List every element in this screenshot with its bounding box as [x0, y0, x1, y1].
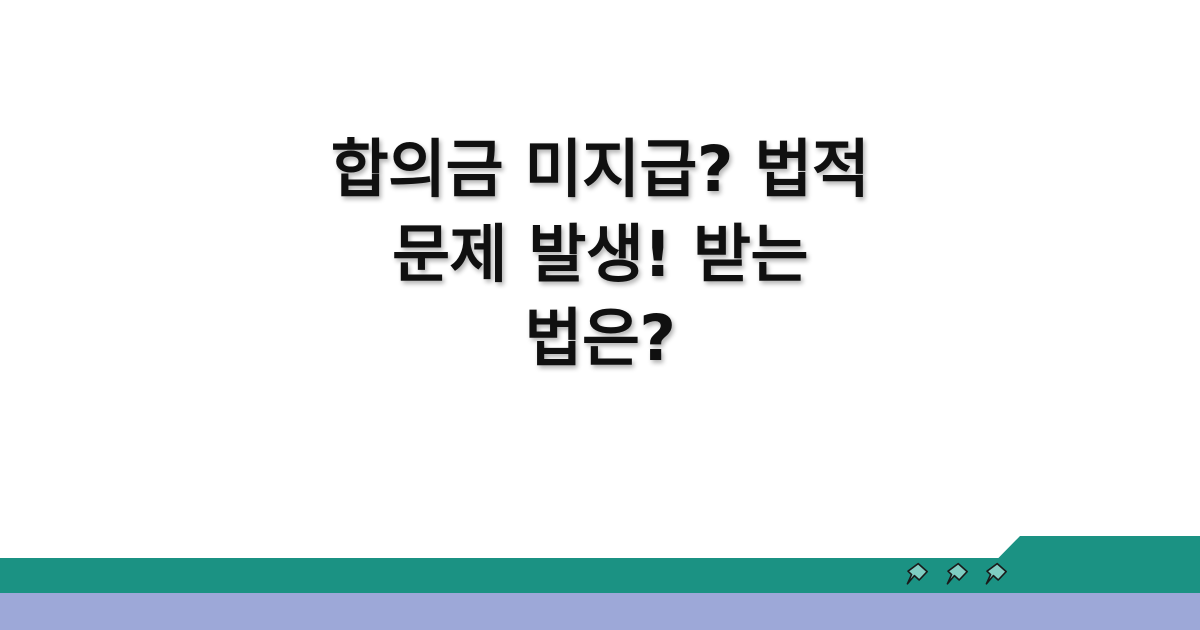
- page-title-line-1: 합의금 미지급? 법적: [331, 133, 870, 206]
- page-title-line-2: 문제 발생! 받는: [392, 218, 808, 291]
- page-title: 합의금 미지급? 법적 문제 발생! 받는 법은?: [250, 128, 950, 381]
- periwinkle-band: [0, 593, 1200, 630]
- page-title-line-3: 법은?: [525, 302, 676, 375]
- diamond-sparkle-icon: [984, 561, 1010, 587]
- diamond-sparkle-icon: [945, 561, 971, 587]
- diamond-sparkle-icon: [905, 561, 931, 587]
- title-block: 합의금 미지급? 법적 문제 발생! 받는 법은?: [0, 0, 1200, 510]
- sparkle-row: [905, 560, 1010, 588]
- teal-band: [0, 536, 1200, 593]
- thumbnail-canvas: 합의금 미지급? 법적 문제 발생! 받는 법은?: [0, 0, 1200, 630]
